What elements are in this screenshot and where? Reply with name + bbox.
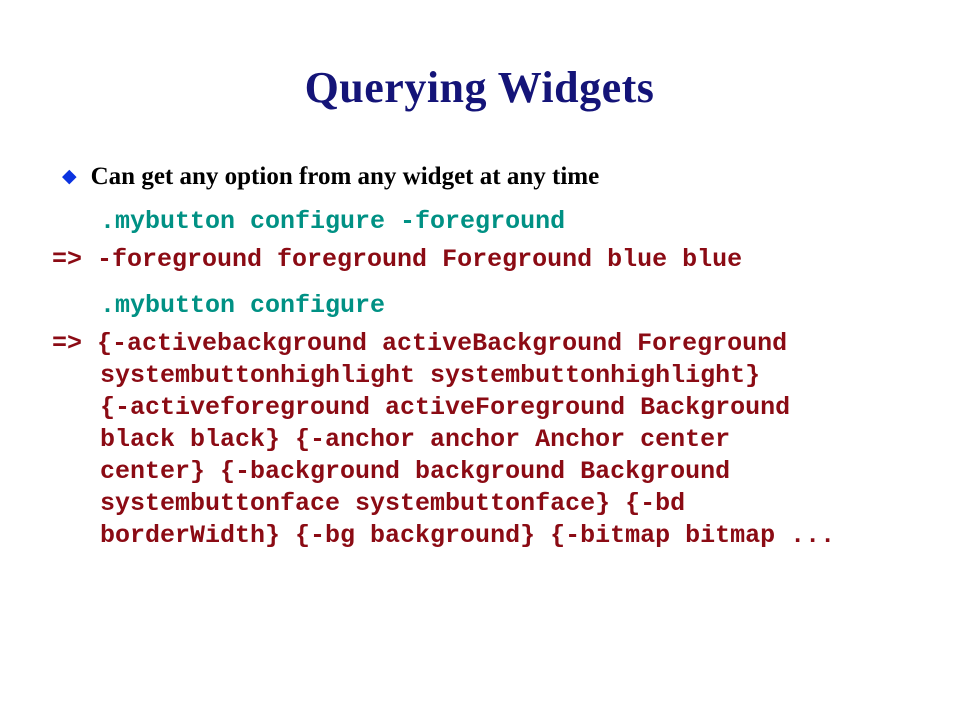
result-line: systembuttonhighlight systembuttonhighli… (0, 360, 959, 392)
result-line: center} {-background background Backgrou… (0, 456, 959, 488)
result-line: => {-activebackground activeBackground F… (0, 328, 959, 360)
example-one: .mybutton configure -foreground => -fore… (0, 206, 959, 276)
example-two: .mybutton configure => {-activebackgroun… (0, 290, 959, 552)
slide-body: ◆ Can get any option from any widget at … (0, 160, 959, 552)
bullet-item-label: Can get any option from any widget at an… (91, 160, 600, 194)
command-line: .mybutton configure -foreground (0, 206, 959, 238)
bullet-item: ◆ Can get any option from any widget at … (0, 160, 959, 198)
result-line: borderWidth} {-bg background} {-bitmap b… (0, 520, 959, 552)
result-block: => {-activebackground activeBackground F… (0, 328, 959, 552)
result-line: black black} {-anchor anchor Anchor cent… (0, 424, 959, 456)
diamond-bullet-icon: ◆ (62, 160, 77, 194)
page-title: Querying Widgets (0, 62, 959, 114)
spacer (0, 276, 959, 282)
slide-canvas: Querying Widgets ◆ Can get any option fr… (0, 0, 959, 719)
command-line: .mybutton configure (0, 290, 959, 322)
result-line: {-activeforeground activeForeground Back… (0, 392, 959, 424)
result-block: => -foreground foreground Foreground blu… (0, 244, 959, 276)
result-line: => -foreground foreground Foreground blu… (0, 244, 959, 276)
result-line: systembuttonface systembuttonface} {-bd (0, 488, 959, 520)
